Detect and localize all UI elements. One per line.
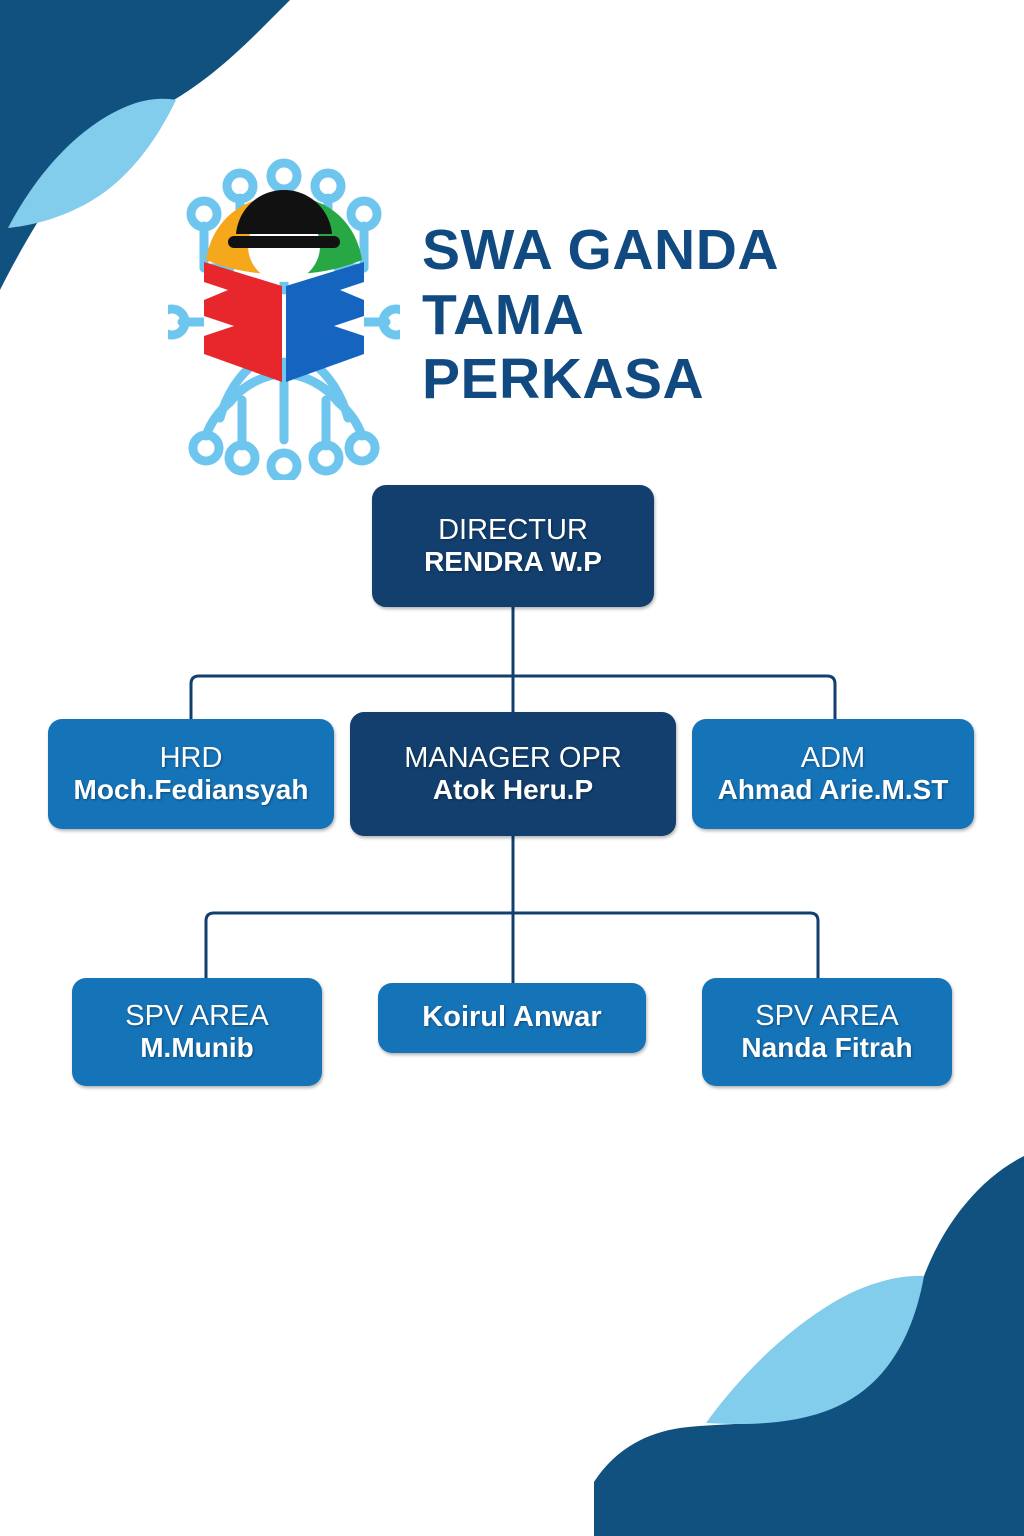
node-title: MANAGER OPR bbox=[404, 742, 622, 774]
decoration-bottom-right bbox=[594, 1136, 1024, 1536]
node-person: Koirul Anwar bbox=[422, 1001, 601, 1034]
node-title: SPV AREA bbox=[125, 1000, 268, 1032]
node-title: ADM bbox=[801, 742, 865, 774]
node-directur[interactable]: DIRECTUR RENDRA W.P bbox=[372, 485, 654, 607]
node-title: HRD bbox=[160, 742, 223, 774]
brand-header: SWA GANDA TAMA PERKASA bbox=[168, 150, 868, 480]
node-title: SPV AREA bbox=[755, 1000, 898, 1032]
node-spv-area-nanda[interactable]: SPV AREA Nanda Fitrah bbox=[702, 978, 952, 1086]
node-manager-opr[interactable]: MANAGER OPR Atok Heru.P bbox=[350, 712, 676, 836]
node-koirul-anwar[interactable]: Koirul Anwar bbox=[378, 983, 646, 1053]
circuit-book-logo-icon bbox=[168, 150, 400, 480]
light-blob-shape bbox=[706, 1276, 924, 1424]
node-hrd[interactable]: HRD Moch.Fediansyah bbox=[48, 719, 334, 829]
node-person: Moch.Fediansyah bbox=[74, 774, 309, 806]
node-adm[interactable]: ADM Ahmad Arie.M.ST bbox=[692, 719, 974, 829]
light-blob-shape bbox=[8, 99, 176, 228]
node-person: Atok Heru.P bbox=[433, 774, 593, 806]
node-person: RENDRA W.P bbox=[424, 546, 602, 578]
node-person: Ahmad Arie.M.ST bbox=[718, 774, 949, 806]
node-title: DIRECTUR bbox=[438, 514, 588, 546]
node-person: Nanda Fitrah bbox=[741, 1032, 912, 1064]
dark-blob-shape bbox=[594, 1156, 1024, 1536]
node-person: M.Munib bbox=[140, 1032, 254, 1064]
org-chart: DIRECTUR RENDRA W.P HRD Moch.Fediansyah … bbox=[0, 470, 1024, 1120]
company-name: SWA GANDA TAMA PERKASA bbox=[422, 218, 868, 411]
node-spv-area-munib[interactable]: SPV AREA M.Munib bbox=[72, 978, 322, 1086]
